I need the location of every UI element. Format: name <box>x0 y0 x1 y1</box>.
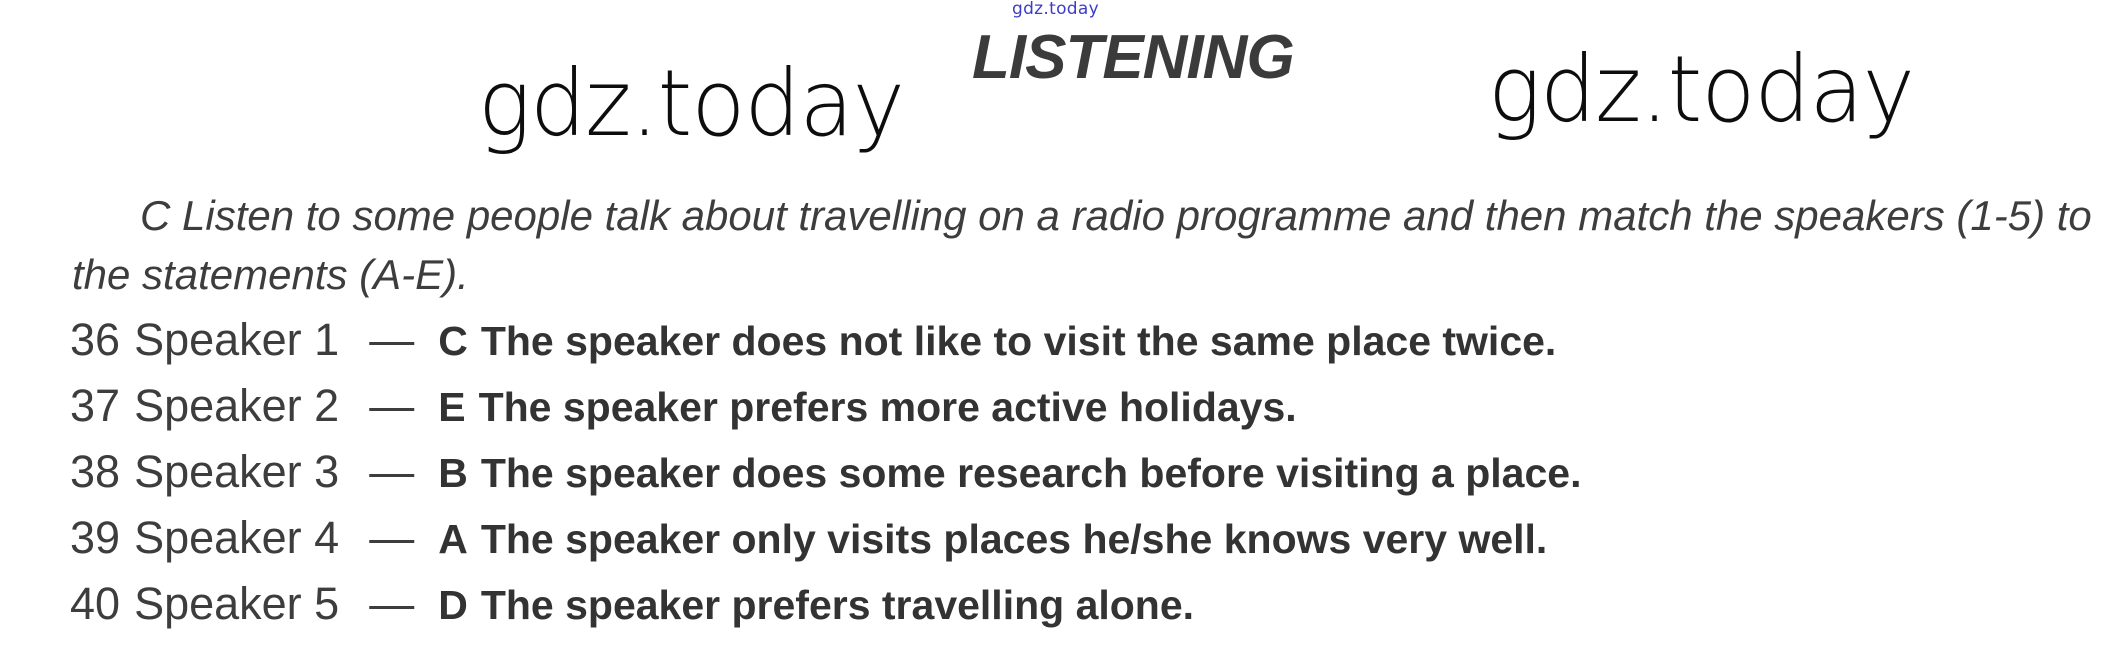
row-dash-icon: — <box>369 446 414 498</box>
watermark-large-left: gdz.today <box>478 50 904 157</box>
row-statement: The speaker prefers more active holidays… <box>479 384 1297 431</box>
row-number: 40 <box>70 578 120 630</box>
row-speaker: Speaker 2 <box>134 380 339 432</box>
row-number: 39 <box>70 512 120 564</box>
page-title: LISTENING <box>972 22 1294 93</box>
row-speaker: Speaker 5 <box>134 578 339 630</box>
row-number: 36 <box>70 314 120 366</box>
watermark-small-top: gdz.today <box>1012 0 1099 19</box>
table-row: 36 Speaker 1 — C The speaker does not li… <box>70 314 2110 380</box>
instruction-line-1: C Listen to some people talk about trave… <box>140 192 1567 239</box>
watermark-large-right: gdz.today <box>1488 36 1914 143</box>
row-answer-letter: C <box>438 318 468 365</box>
row-speaker: Speaker 3 <box>134 446 339 498</box>
row-number: 38 <box>70 446 120 498</box>
row-dash-icon: — <box>369 578 414 630</box>
row-dash-icon: — <box>369 380 414 432</box>
table-row: 38 Speaker 3 — B The speaker does some r… <box>70 446 2110 512</box>
table-row: 37 Speaker 2 — E The speaker prefers mor… <box>70 380 2110 446</box>
task-instructions: C Listen to some people talk about trave… <box>72 186 2102 304</box>
row-answer-letter: D <box>438 582 468 629</box>
row-statement: The speaker does not like to visit the s… <box>481 318 1557 365</box>
row-statement: The speaker does some research before vi… <box>481 450 1582 497</box>
row-statement: The speaker only visits places he/she kn… <box>481 516 1548 563</box>
matching-answers-list: 36 Speaker 1 — C The speaker does not li… <box>70 314 2110 644</box>
row-dash-icon: — <box>369 314 414 366</box>
row-dash-icon: — <box>369 512 414 564</box>
row-number: 37 <box>70 380 120 432</box>
row-speaker: Speaker 4 <box>134 512 339 564</box>
row-answer-letter: A <box>438 516 468 563</box>
table-row: 39 Speaker 4 — A The speaker only visits… <box>70 512 2110 578</box>
row-answer-letter: E <box>438 384 465 431</box>
row-speaker: Speaker 1 <box>134 314 339 366</box>
row-answer-letter: B <box>438 450 468 497</box>
table-row: 40 Speaker 5 — D The speaker prefers tra… <box>70 578 2110 644</box>
row-statement: The speaker prefers travelling alone. <box>481 582 1194 629</box>
